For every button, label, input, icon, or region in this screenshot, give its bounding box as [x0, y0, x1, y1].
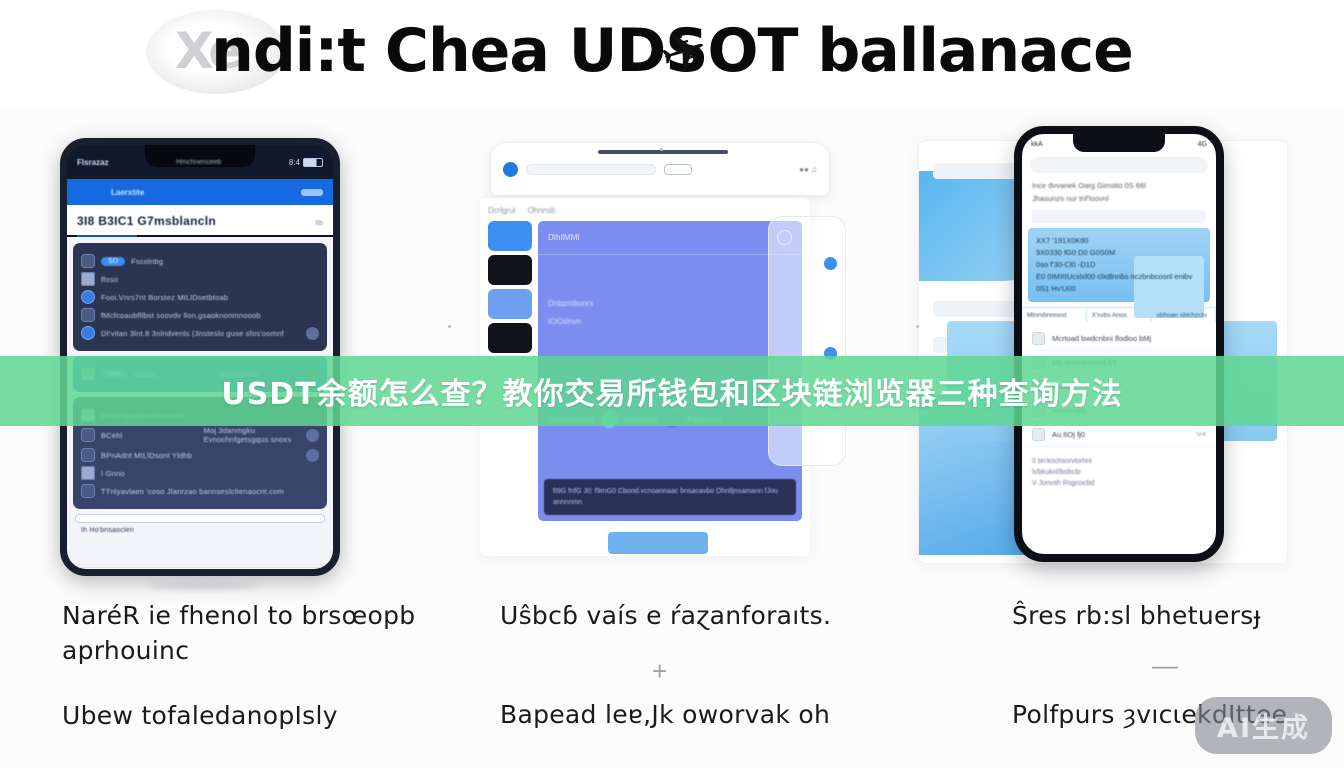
wallet-icon [81, 428, 95, 442]
link-icon [81, 448, 95, 462]
title-underline [77, 235, 137, 237]
panel-line: IOCslnvn [548, 313, 792, 331]
row-label: Moj 3danmgku Evnochnfgetsgqus snoxs [204, 426, 301, 444]
decorative-speck [660, 148, 663, 151]
browser-toolbar-icons[interactable]: ●● ♫ [799, 165, 817, 174]
header-line: Ince dvvanek Oarg Gimstio 0S 66l [1022, 179, 1216, 192]
filter-pill[interactable] [1032, 210, 1206, 223]
globe-icon[interactable] [488, 221, 532, 251]
row-label: ffoso [101, 275, 319, 284]
eye-icon [1032, 428, 1045, 441]
image-icon [81, 466, 95, 480]
list-item[interactable]: SO Fscolnbg [81, 254, 319, 268]
headline-banner: USDT余额怎么查？教你交易所钱包和区块链浏览器三种查询方法 [0, 356, 1344, 426]
column-header: obhoan sblchzcto [1151, 308, 1216, 323]
list-item[interactable]: Mcrtoad bwdcnbni lfodloo bMj [1022, 327, 1216, 351]
phone1-nav-bar[interactable]: Laerxtite [67, 179, 333, 205]
list-item[interactable]: fMcfcoaubfllbst soovdv llon,gsaoknonmnoo… [81, 308, 319, 322]
footer-lines: 0 bn'knchsn/vlorhnl h/bkuknl/bobclo V Jo… [1022, 451, 1216, 494]
card-line: 0so f'30-Cl0 -D1D [1036, 259, 1202, 271]
decorative-speck [448, 325, 451, 328]
caption-row: NaréR ie fhenol to brsœopb aprhouinc Ube… [0, 598, 1344, 768]
screen-title-side: Itb [315, 220, 323, 227]
caption-line-1: Uŝbcɓ vaís e ŕaɀanforaıts. [500, 598, 920, 633]
row-chip: BCehl [101, 431, 198, 440]
row-label: fMcfcoaubfllbst soovdv llon,gsaoknonmnoo… [101, 311, 319, 320]
panel-line: Dnbzmbonrx [548, 295, 792, 313]
search-input[interactable] [1030, 157, 1208, 173]
footer-note: Ih Ho'bnsaoclen [73, 527, 327, 540]
caption-block-2: Uŝbcɓ vaís e ŕaɀanforaıts. + Bapead leɐ,… [500, 598, 920, 732]
header-line: Jhasunzo nur tnf'loovnl [1022, 192, 1216, 205]
black-phone-frame: kkA 4G Ince dvvanek Oarg Gimstio 0S 66l … [1014, 126, 1224, 562]
caption-line-1: Ŝres rb:sl bhetuersɟ [1012, 598, 1344, 633]
status-right: 8:4 [289, 158, 323, 167]
ghost-device-outline [768, 216, 846, 466]
row-action-circle[interactable] [306, 449, 319, 462]
footer-line: h/bkuknl/bobclo [1032, 467, 1206, 478]
tablet-browser-frame: ●● ♫ Dcrlgrui Ohnnsb [480, 128, 840, 578]
footer-note-label: Ih Ho'bnsaoclen [81, 527, 319, 534]
status-right-text: 4G [1198, 141, 1207, 148]
list-item[interactable]: BPnAdnt MtLlDsont Yldhb [81, 448, 319, 462]
caption-line-1b: aprhouinc [62, 633, 482, 668]
clock-icon [81, 326, 95, 340]
nav-title: Laerxtite [111, 188, 144, 197]
panel-footer: fI9G fnfG J0: f9rnG0 Cbond.vcnoannaac bn… [544, 479, 796, 515]
phone3-notch [1073, 134, 1165, 152]
qr-icon [1032, 332, 1045, 345]
status-left-text: Flsrazaz [77, 158, 109, 167]
address-bar-input[interactable] [526, 164, 656, 175]
panel-title: DIhllMMl [548, 233, 579, 242]
phone1-screen-title: 3I8 B3IC1 G7msblancln Itb [67, 205, 333, 235]
code-icon[interactable] [488, 323, 532, 353]
row-chip: SO [101, 257, 125, 266]
device-speaker-line [598, 150, 728, 154]
explorer-mockup: kkA 4G Ince dvvanek Oarg Gimstio 0S 66l … [914, 126, 1314, 576]
card-column-headers: Mtnrvbnnnost X'svbs Anos obhoan sblchzct… [1022, 307, 1216, 323]
poster-canvas: Xe ndi:t Chea UDSOT ballanace ✈ Flsrazaz… [0, 0, 1344, 768]
breadcrumb-item[interactable]: Dcrlgrui [488, 206, 516, 215]
caption-line-1: NaréR ie fhenol to brsœopb [62, 598, 482, 633]
row-label: BPnAdnt MtLlDsont Yldhb [101, 451, 300, 460]
list-item[interactable]: I Gnno [81, 466, 319, 480]
tab-chip-icon[interactable] [664, 164, 692, 175]
phone1-shadow [148, 582, 258, 589]
panel-lines: Dnbzmbonrx IOCslnvn [538, 255, 802, 331]
browser-logo-icon [503, 162, 518, 177]
caption-line-2: Bapead leɐ,Jk oworvak oh [500, 697, 920, 732]
status-time: 8:4 [289, 158, 300, 167]
list-card-primary: SO Fscolnbg ffoso Fooi.Vnrs7nt Borstez M… [73, 243, 327, 351]
list-item[interactable]: ffoso [81, 272, 319, 286]
row-action-circle[interactable] [306, 429, 319, 442]
card-line: XX7 '191X0Ktl0 [1036, 235, 1202, 247]
row-label: TTnlyavlaen 'coso Jlanrzao bannseslclten… [101, 487, 319, 496]
footer-line: V Jonvsh Rsgnocbd [1032, 478, 1206, 489]
list-item[interactable]: Au.6Oj fj0 'vr4 [1022, 423, 1216, 447]
mockup-column-3: kkA 4G Ince dvvanek Oarg Gimstio 0S 66l … [900, 110, 1330, 580]
row-label: Dt’vitan 3lnt.8 3nlndvenls (3nsteslo gus… [101, 329, 300, 338]
banner-title: USDT余额怎么查？教你交易所钱包和区块链浏览器三种查询方法 [221, 369, 1122, 413]
nav-action-pill[interactable] [301, 189, 323, 196]
tablet-tray-block [608, 532, 708, 554]
card-line: 9X0330 fG0 D0 G0S0M [1036, 247, 1202, 259]
status-left-text: kkA [1031, 141, 1043, 148]
row-action-circle[interactable] [306, 327, 319, 340]
row-label: Fscolnbg [131, 257, 319, 266]
breadcrumb-item[interactable]: Ohnnsb [528, 206, 556, 215]
decorative-speck [916, 325, 919, 328]
caption-separator-icon: — [1152, 650, 1178, 681]
row-label: Fooi.Vnrs7nt Borstez MtLlDsetbtoab [101, 293, 319, 302]
header-zone: Xe ndi:t Chea UDSOT ballanace ✈ [0, 0, 1344, 108]
list-item[interactable]: Dt’vitan 3lnt.8 3nlndvenls (3nsteslo gus… [81, 326, 319, 340]
qr-icon[interactable] [488, 255, 532, 285]
column-header: Mtnrvbnnnost [1022, 308, 1087, 323]
panel-header: DIhllMMl [538, 221, 802, 255]
list-item[interactable]: Fooi.Vnrs7nt Borstez MtLlDsetbtoab [81, 290, 319, 304]
battery-icon [303, 158, 323, 167]
mockup-column-1: Flsrazaz Hmchnenceeb 8:4 Laerxtite 3I8 B… [28, 110, 448, 580]
footer-line: 0 bn'knchsn/vlorhnl [1032, 456, 1206, 467]
row-label: I Gnno [101, 469, 319, 478]
card-line: 0S1 Hv'U00 [1036, 283, 1202, 295]
screen-title-main: 3I8 B3IC1 G7msblancln [77, 214, 216, 228]
search-input[interactable] [75, 514, 325, 523]
shield-icon [81, 290, 95, 304]
caption-separator-icon: + [652, 656, 667, 687]
list-item-label: Mcrtoad bwdcnbni lfodloo bMj [1052, 334, 1206, 343]
phone1-tab-bar[interactable]: motsanlo Qo8 fnoncna Gbcosns| Dsabbf [67, 567, 333, 576]
card-line: E0 0IMXtUcxlxl00 clxdlnnbs nczbnbcosnl e… [1036, 271, 1202, 283]
grid-icon[interactable] [488, 289, 532, 319]
tag-icon [81, 484, 95, 498]
status-center-text: Hmchnenceeb [109, 159, 289, 166]
chart-icon [81, 308, 95, 322]
mockup-column-2: ●● ♫ Dcrlgrui Ohnnsb [458, 110, 878, 580]
balance-card: XX7 '191X0Ktl0 9X0330 fG0 D0 G0S0M 0so f… [1028, 228, 1210, 302]
card-icon [81, 272, 95, 286]
phone1-status-bar: Flsrazaz Hmchnenceeb 8:4 [67, 145, 333, 179]
ghost-dot-icon [824, 257, 837, 270]
list-item[interactable]: BCehl Moj 3danmgku Evnochnfgetsgqus snox… [81, 426, 319, 444]
list-item[interactable]: TTnlyavlaen 'coso Jlanrzao bannseslclten… [81, 484, 319, 498]
column-header: X'svbs Anos [1087, 308, 1152, 323]
list-item-right: 'vr4 [1196, 431, 1206, 438]
breadcrumb[interactable]: Dcrlgrui Ohnnsb [488, 206, 802, 215]
ai-generated-watermark: AI生成 [1195, 697, 1332, 754]
caption-line-2: Ubew tofaledanopIsly [62, 698, 482, 733]
caption-block-1: NaréR ie fhenol to brsœopb aprhouinc Ube… [62, 598, 482, 733]
refresh-icon [81, 254, 95, 268]
list-item-label: Au.6Oj fj0 [1052, 430, 1189, 439]
